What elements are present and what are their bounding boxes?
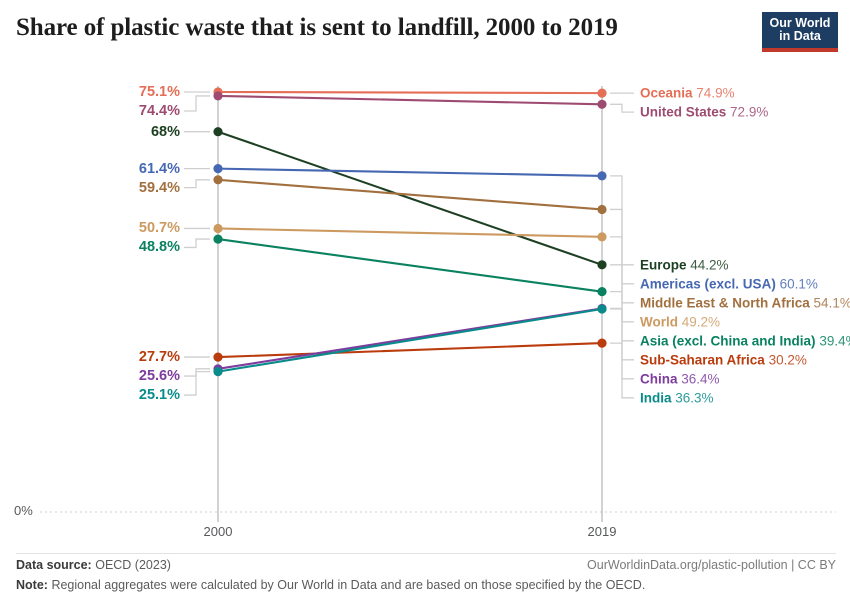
series-point-end[interactable] xyxy=(597,232,606,241)
footer-url[interactable]: OurWorldinData.org/plastic-pollution | C… xyxy=(587,558,836,572)
series-legend-label[interactable]: Americas (excl. USA) 60.1% xyxy=(640,276,818,291)
left-value-label: 50.7% xyxy=(139,220,180,236)
series-point-start[interactable] xyxy=(213,164,222,173)
left-value-label: 25.6% xyxy=(139,368,180,384)
chart-root: Share of plastic waste that is sent to l… xyxy=(0,0,850,600)
leader-line-left xyxy=(184,372,210,395)
series-lines xyxy=(218,92,602,372)
series-point-start[interactable] xyxy=(213,224,222,233)
left-value-label: 59.4% xyxy=(139,180,180,196)
series-legend-label[interactable]: Sub-Saharan Africa 30.2% xyxy=(640,352,807,367)
leader-line-left xyxy=(184,96,210,111)
leader-line-right xyxy=(610,104,634,112)
series-end-value: 36.4% xyxy=(681,371,719,386)
slope-chart-plot: 75.1%74.4%68%61.4%59.4%50.7%48.8%27.7%25… xyxy=(0,0,850,600)
footer-note-label: Note: xyxy=(16,578,48,592)
series-legend-label[interactable]: Asia (excl. China and India) 39.4% xyxy=(640,333,850,348)
left-value-label: 74.4% xyxy=(139,103,180,119)
series-line[interactable] xyxy=(218,132,602,265)
footer: Data source: OECD (2023) OurWorldinData.… xyxy=(16,558,836,592)
series-name: Asia (excl. China and India) xyxy=(640,333,816,348)
series-point-start[interactable] xyxy=(213,175,222,184)
series-name: Sub-Saharan Africa xyxy=(640,352,765,367)
x-axis-tick-label: 2000 xyxy=(204,524,233,539)
series-legend-label[interactable]: United States 72.9% xyxy=(640,105,768,120)
footer-source-label: Data source: xyxy=(16,558,92,572)
footer-note-text: Regional aggregates were calculated by O… xyxy=(51,578,645,592)
series-end-value: 49.2% xyxy=(682,314,720,329)
leader-line-left xyxy=(184,369,210,376)
series-end-value: 39.4% xyxy=(819,333,850,348)
series-line[interactable] xyxy=(218,96,602,104)
left-value-label: 75.1% xyxy=(139,84,180,100)
series-line[interactable] xyxy=(218,343,602,357)
series-name: United States xyxy=(640,105,726,120)
series-name: World xyxy=(640,314,678,329)
footer-divider xyxy=(16,553,836,554)
series-end-value: 36.3% xyxy=(675,390,713,405)
series-end-value: 74.9% xyxy=(696,86,734,101)
series-name: Middle East & North Africa xyxy=(640,295,810,310)
series-name: Oceania xyxy=(640,86,693,101)
series-point-end[interactable] xyxy=(597,304,606,313)
footer-source: Data source: OECD (2023) xyxy=(16,558,171,572)
left-value-label: 68% xyxy=(151,124,180,140)
series-line[interactable] xyxy=(218,228,602,236)
series-name: Americas (excl. USA) xyxy=(640,276,776,291)
series-end-value: 30.2% xyxy=(769,352,807,367)
series-name: India xyxy=(640,390,672,405)
series-legend-label[interactable]: China 36.4% xyxy=(640,371,720,386)
series-end-value: 44.2% xyxy=(690,257,728,272)
series-point-start[interactable] xyxy=(213,91,222,100)
y-axis-zero-label: 0% xyxy=(14,503,33,518)
series-line[interactable] xyxy=(218,92,602,93)
series-line[interactable] xyxy=(218,239,602,292)
series-name: China xyxy=(640,371,678,386)
series-point-end[interactable] xyxy=(597,205,606,214)
series-point-end[interactable] xyxy=(597,260,606,269)
series-point-start[interactable] xyxy=(213,367,222,376)
series-point-start[interactable] xyxy=(213,234,222,243)
leader-line-left xyxy=(184,180,210,188)
series-point-start[interactable] xyxy=(213,127,222,136)
left-value-label: 48.8% xyxy=(139,239,180,255)
left-value-label: 61.4% xyxy=(139,161,180,177)
series-legend-label[interactable]: Europe 44.2% xyxy=(640,257,729,272)
leader-lines xyxy=(184,92,634,398)
series-line[interactable] xyxy=(218,169,602,176)
series-point-end[interactable] xyxy=(597,339,606,348)
footer-note: Note: Regional aggregates were calculate… xyxy=(16,578,836,592)
footer-source-text: OECD (2023) xyxy=(95,558,171,572)
series-end-value: 72.9% xyxy=(730,105,768,120)
series-point-end[interactable] xyxy=(597,287,606,296)
series-point-end[interactable] xyxy=(597,171,606,180)
series-legend-label[interactable]: World 49.2% xyxy=(640,314,720,329)
leader-line-left xyxy=(184,239,210,247)
series-point-end[interactable] xyxy=(597,89,606,98)
series-line[interactable] xyxy=(218,180,602,210)
left-value-label: 27.7% xyxy=(139,349,180,365)
series-line[interactable] xyxy=(218,309,602,372)
series-legend-label[interactable]: India 36.3% xyxy=(640,390,714,405)
series-name: Europe xyxy=(640,257,687,272)
series-end-value: 54.1% xyxy=(814,295,850,310)
series-legend-label[interactable]: Oceania 74.9% xyxy=(640,86,735,101)
series-point-start[interactable] xyxy=(213,352,222,361)
left-value-label: 25.1% xyxy=(139,387,180,403)
series-legend-label[interactable]: Middle East & North Africa 54.1% xyxy=(640,295,850,310)
series-point-end[interactable] xyxy=(597,100,606,109)
series-end-value: 60.1% xyxy=(780,276,818,291)
x-axis-tick-label: 2019 xyxy=(588,524,617,539)
